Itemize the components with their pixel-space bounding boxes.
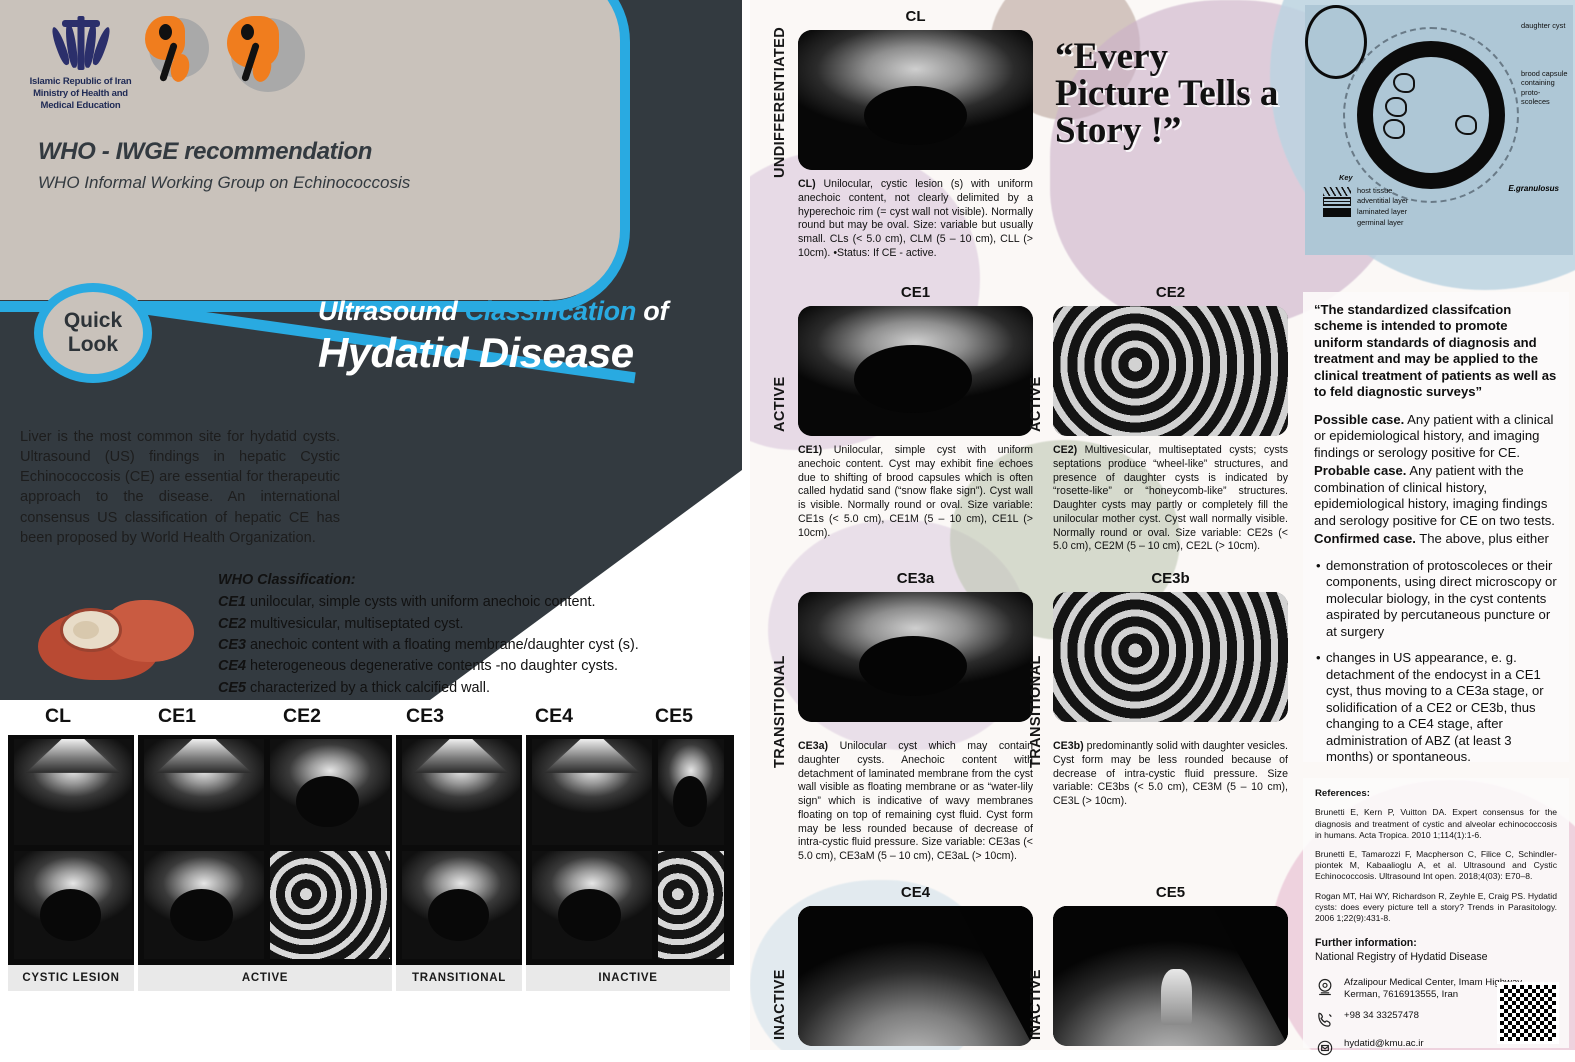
gallery-label-ce2: CE2 <box>283 705 321 728</box>
caption-text-ce3b: predominantly solid with daughter vesicl… <box>1053 740 1288 807</box>
who-class-text-ce4: heterogeneous degenerative contents -no … <box>246 658 618 674</box>
ultrasound-image-ce5 <box>1053 906 1288 1046</box>
contact-phone-text: +98 34 33257478 <box>1344 1010 1419 1022</box>
who-class-code-ce2: CE2 <box>218 616 246 632</box>
gallery-group-inactive <box>526 735 730 965</box>
who-class-code-ce5: CE5 <box>218 680 246 696</box>
possible-case-label: Possible case. <box>1314 412 1404 427</box>
intro-paragraph: Liver is the most common site for hydati… <box>20 427 340 548</box>
quick-look-line1: Quick <box>64 309 122 333</box>
who-class-row-ce3: CE3 anechoic content with a floating mem… <box>218 635 718 656</box>
section-title-ce4: CE4 <box>798 884 1033 901</box>
key-swatch-germinal-icon <box>1323 219 1351 228</box>
further-info-text: National Registry of Hydatid Disease <box>1315 950 1557 964</box>
stage-band-cystic-lesion: CYSTIC LESION <box>8 965 138 991</box>
gallery-label-ce1: CE1 <box>158 705 196 728</box>
ministry-name: Ministry of Health and Medical Education <box>28 88 133 112</box>
stage-band-inactive: INACTIVE <box>526 965 730 991</box>
section-title-ce3b: CE3b <box>1053 570 1288 587</box>
liver-illustration <box>38 592 196 688</box>
lifecycle-species-label: E.granulosus <box>1508 184 1559 193</box>
who-class-text-ce3: anechoic content with a floating membran… <box>246 637 639 653</box>
gallery-thumb-ce1-1 <box>144 739 264 845</box>
gallery-thumb-ce1-2 <box>144 851 264 959</box>
section-title-ce2: CE2 <box>1053 284 1288 301</box>
confirmed-case-paragraph: Confirmed case. The above, plus either <box>1314 531 1558 547</box>
who-recommendation-subtitle: WHO Informal Working Group on Echinococc… <box>38 171 458 196</box>
stage-label-inactive-ce4: INACTIVE <box>772 930 788 1040</box>
phone-icon <box>1315 1010 1335 1030</box>
gallery-thumb-ce3-2 <box>402 851 520 959</box>
lifecycle-diagram: daughter cyst brood capsule containing p… <box>1305 5 1573 255</box>
who-recommendation-block: WHO - IWGE recommendation WHO Informal W… <box>38 138 458 196</box>
caption-ce3a: CE3a) Unilocular cyst which may contain … <box>798 740 1033 864</box>
email-icon <box>1315 1038 1335 1058</box>
ultrasound-gallery <box>8 735 734 965</box>
caption-code-cl: CL) <box>798 178 816 190</box>
contact-email-text: hydatid@kmu.ac.ir <box>1344 1038 1424 1050</box>
research-center-logo-large <box>225 10 313 102</box>
who-class-row-ce5: CE5 characterized by a thick calcified w… <box>218 678 718 699</box>
caption-ce2: CE2) Multivesicular, multiseptated cysts… <box>1053 444 1288 554</box>
probable-case-label: Probable case. <box>1314 463 1406 478</box>
annotation-brood-capsule: brood capsule containing proto-scoleces <box>1521 69 1569 106</box>
reference-item-3: Rogan MT, Hai WY, Richardson R, Zeyhle E… <box>1315 891 1557 925</box>
gallery-group-cystic-lesion <box>8 735 138 965</box>
who-class-row-ce4: CE4 heterogeneous degenerative contents … <box>218 656 718 677</box>
research-center-logo-small <box>143 10 215 92</box>
gallery-thumb-cl-2 <box>14 851 132 959</box>
stage-label-undifferentiated: UNDIFFERENTIATED <box>772 28 788 178</box>
who-class-text-ce1: unilocular, simple cysts with uniform an… <box>246 594 596 610</box>
annotation-daughter-cyst: daughter cyst <box>1521 21 1571 30</box>
caption-code-ce3a: CE3a) <box>798 740 828 752</box>
probable-case-paragraph: Probable case. Any patient with the comb… <box>1314 463 1558 529</box>
iran-ministry-logo: Islamic Republic of Iran Ministry of Hea… <box>28 10 133 112</box>
who-recommendation-title: WHO - IWGE recommendation <box>38 138 458 166</box>
gallery-stage-bands: CYSTIC LESION ACTIVE TRANSITIONAL INACTI… <box>8 965 734 991</box>
caption-ce1: CE1) Unilocular, simple cyst with unifor… <box>798 444 1033 540</box>
key-swatch-adventitial-icon <box>1323 197 1351 206</box>
confirmed-case-label: Confirmed case. <box>1314 531 1416 546</box>
reference-item-2: Brunetti E, Tamarozzi F, Macpherson C, F… <box>1315 849 1557 883</box>
who-class-text-ce5: characterized by a thick calcified wall. <box>246 680 490 696</box>
stage-label-inactive-ce5: INACTIVE <box>1028 930 1044 1040</box>
brood-capsule-c <box>1385 97 1407 117</box>
caption-ce3b: CE3b) predominantly solid with daughter … <box>1053 740 1288 809</box>
ministry-country: Islamic Republic of Iran <box>28 76 133 88</box>
key-swatch-laminated-icon <box>1323 208 1351 217</box>
lifecycle-key-title: Key <box>1339 173 1408 184</box>
caption-code-ce1: CE1) <box>798 444 822 456</box>
location-icon <box>1315 977 1335 997</box>
bullet-us-appearance: changes in US appearance, e. g. detachme… <box>1326 650 1558 765</box>
key-label-host-tissue: host tissue <box>1357 186 1392 197</box>
left-panel: Islamic Republic of Iran Ministry of Hea… <box>0 0 742 1050</box>
bullet-protoscoleces: demonstration of protoscoleces or their … <box>1326 558 1558 640</box>
further-information: Further information: National Registry o… <box>1315 936 1557 965</box>
key-swatch-host-tissue-icon <box>1323 187 1351 196</box>
gallery-thumb-ce4-2 <box>532 851 652 959</box>
gallery-thumb-ce5-2 <box>658 851 724 959</box>
who-class-row-ce1: CE1 unilocular, simple cysts with unifor… <box>218 592 718 613</box>
reference-item-1: Brunetti E, Kern P, Vuitton DA. Expert c… <box>1315 807 1557 841</box>
qr-code <box>1497 982 1559 1044</box>
section-title-ce1: CE1 <box>798 284 1033 301</box>
who-class-row-ce2: CE2 multivesicular, multiseptated cyst. <box>218 614 718 635</box>
caption-text-ce1: Unilocular, simple cyst with uniform ane… <box>798 444 1033 539</box>
brood-capsule-b <box>1383 119 1405 139</box>
confirmed-case-bullets: demonstration of protoscoleces or their … <box>1314 558 1558 766</box>
gallery-label-ce5: CE5 <box>655 705 693 728</box>
gallery-thumb-ce2-1 <box>270 739 390 845</box>
brood-capsule-d <box>1393 73 1415 93</box>
ultrasound-image-ce4 <box>798 906 1033 1046</box>
key-label-laminated: laminated layer <box>1357 207 1407 218</box>
stage-band-transitional: TRANSITIONAL <box>396 965 526 991</box>
page-title: Ultrasound Classification of Hydatid Dis… <box>318 296 728 377</box>
references-box: References: Brunetti E, Kern P, Vuitton … <box>1303 778 1569 1048</box>
quick-look-badge: Quick Look <box>34 283 152 383</box>
gallery-group-active <box>138 735 396 965</box>
further-info-title: Further information: <box>1315 936 1557 950</box>
caption-text-ce3a: Unilocular cyst which may contain daught… <box>798 740 1033 862</box>
title-line1-b: of <box>636 296 668 326</box>
poster-root: Islamic Republic of Iran Ministry of Hea… <box>0 0 1575 1050</box>
section-title-ce5: CE5 <box>1053 884 1288 901</box>
gallery-label-ce3: CE3 <box>406 705 444 728</box>
key-label-adventitial: adventitial layer <box>1357 196 1408 207</box>
key-label-germinal: germinal layer <box>1357 218 1403 229</box>
title-line2: Hydatid Disease <box>318 329 728 377</box>
stage-label-transitional-ce3a: TRANSITIONAL <box>772 618 788 768</box>
ultrasound-image-ce1 <box>798 306 1033 436</box>
gallery-column-labels: CL CE1 CE2 CE3 CE4 CE5 <box>0 705 742 737</box>
stage-label-active-ce1: ACTIVE <box>772 322 788 432</box>
ultrasound-image-ce3a <box>798 592 1033 722</box>
gallery-thumb-ce3-1 <box>402 739 520 845</box>
lifecycle-key: Key host tissue adventitial layer lamina… <box>1323 173 1408 229</box>
gallery-thumb-ce2-2 <box>270 851 390 959</box>
gallery-group-transitional <box>396 735 526 965</box>
section-title-ce3a: CE3a <box>798 570 1033 587</box>
who-classification-list: WHO Classification: CE1 unilocular, simp… <box>218 570 718 699</box>
title-line1-a: Ultrasound <box>318 296 465 326</box>
gallery-label-ce4: CE4 <box>535 705 573 728</box>
who-class-code-ce1: CE1 <box>218 594 246 610</box>
germinal-layer-ring <box>1371 55 1491 175</box>
stage-label-transitional-ce3b: TRANSITIONAL <box>1028 618 1044 768</box>
ultrasound-image-cl <box>798 30 1033 170</box>
who-class-code-ce3: CE3 <box>218 637 246 653</box>
story-quote-heading: “Every Picture Tells a Story !” <box>1055 38 1290 149</box>
caption-text-cl: Unilocular, cystic lesion (s) with unifo… <box>798 178 1033 259</box>
possible-case-paragraph: Possible case. Any patient with a clinic… <box>1314 412 1558 461</box>
caption-code-ce3b: CE3b) <box>1053 740 1084 752</box>
statement-quote: “The standardized classifcation scheme i… <box>1314 302 1558 401</box>
gallery-label-cl: CL <box>45 705 71 728</box>
stage-band-active: ACTIVE <box>138 965 396 991</box>
ultrasound-image-ce3b <box>1053 592 1288 722</box>
references-title: References: <box>1315 788 1557 800</box>
logo-row: Islamic Republic of Iran Ministry of Hea… <box>28 10 313 112</box>
quick-look-line2: Look <box>68 333 118 357</box>
title-line1-accent: Classification <box>465 296 636 326</box>
who-classification-heading: WHO Classification: <box>218 570 718 591</box>
stage-label-active-ce2: ACTIVE <box>1028 322 1044 432</box>
gallery-thumb-ce5-1 <box>658 739 724 845</box>
who-class-code-ce4: CE4 <box>218 658 246 674</box>
caption-code-ce2: CE2) <box>1053 444 1077 456</box>
statement-box: “The standardized classifcation scheme i… <box>1303 292 1569 762</box>
section-title-cl: CL <box>798 8 1033 25</box>
ultrasound-image-ce2 <box>1053 306 1288 436</box>
brood-capsule-a <box>1455 115 1477 135</box>
who-class-text-ce2: multivesicular, multiseptated cyst. <box>246 616 464 632</box>
gallery-thumb-ce4-1 <box>532 739 652 845</box>
gallery-thumb-cl-1 <box>14 739 132 845</box>
caption-cl: CL) Unilocular, cystic lesion (s) with u… <box>798 178 1033 261</box>
confirmed-case-text: The above, plus either <box>1416 531 1549 546</box>
iran-emblem-icon <box>50 14 112 72</box>
caption-text-ce2: Multivesicular, multiseptated cysts; cys… <box>1053 444 1288 552</box>
